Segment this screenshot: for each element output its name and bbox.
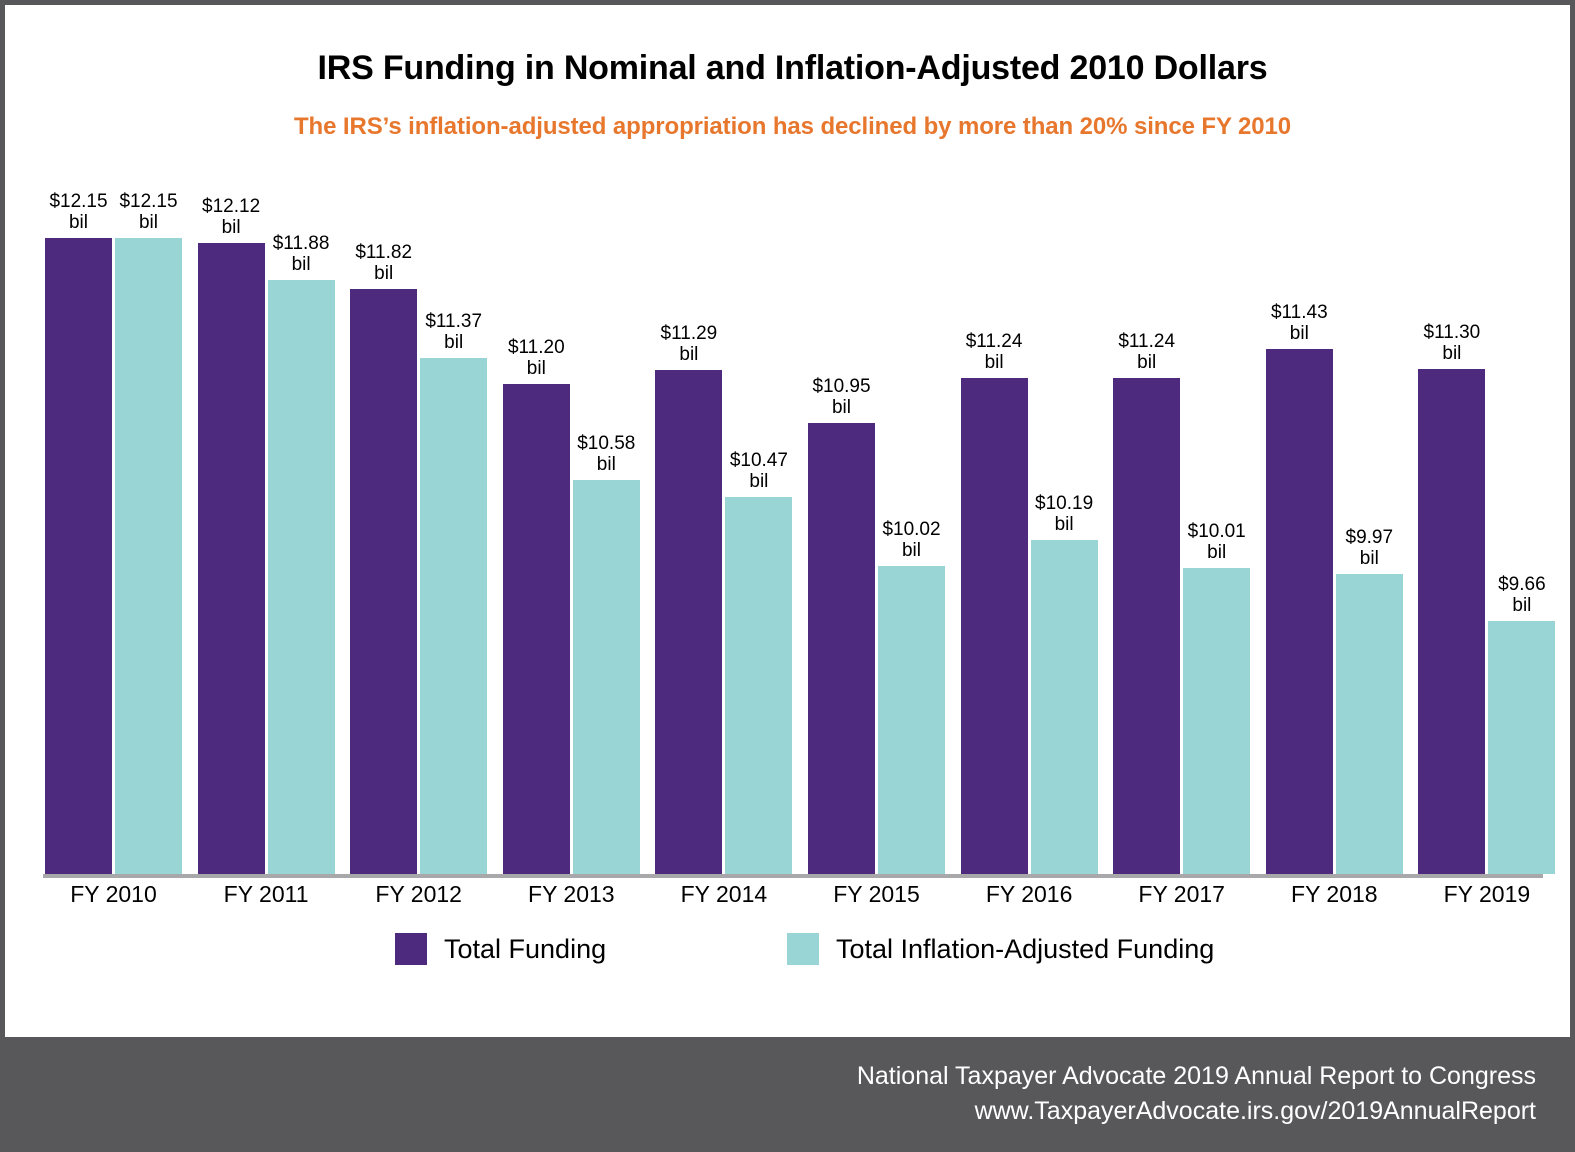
bar-fy-2017-adjusted[interactable] bbox=[1183, 568, 1250, 874]
bar-fy-2016-nominal[interactable] bbox=[961, 378, 1028, 874]
bar-value-label-fy-2012-nominal: $11.82bil bbox=[336, 242, 431, 284]
bar-fy-2018-nominal[interactable] bbox=[1266, 349, 1333, 874]
chart-page: IRS Funding in Nominal and Inflation-Adj… bbox=[0, 0, 1575, 1152]
bar-fy-2011-adjusted[interactable] bbox=[268, 280, 335, 874]
bar-fy-2018-adjusted[interactable] bbox=[1336, 574, 1403, 874]
bar-value-label-fy-2014-adjusted: $10.47bil bbox=[711, 450, 806, 492]
bar-fy-2014-nominal[interactable] bbox=[655, 370, 722, 874]
legend-label-inflation-adjusted: Total Inflation-Adjusted Funding bbox=[836, 934, 1214, 965]
legend-swatch-icon-inflation-adjusted bbox=[787, 933, 819, 965]
legend-label-total-funding: Total Funding bbox=[444, 934, 606, 965]
bar-value-label-fy-2016-nominal: $11.24bil bbox=[947, 331, 1042, 373]
bar-fy-2017-nominal[interactable] bbox=[1113, 378, 1180, 874]
bar-fy-2013-adjusted[interactable] bbox=[573, 480, 640, 874]
bar-fy-2015-adjusted[interactable] bbox=[878, 566, 945, 874]
bar-fy-2010-adjusted[interactable] bbox=[115, 238, 182, 874]
bar-value-label-fy-2015-nominal: $10.95bil bbox=[794, 376, 889, 418]
bar-value-label-fy-2011-adjusted: $11.88bil bbox=[254, 233, 349, 275]
legend-swatch-icon-total-funding bbox=[395, 933, 427, 965]
footer-report-title: National Taxpayer Advocate 2019 Annual R… bbox=[5, 1059, 1536, 1094]
bar-value-label-fy-2018-nominal: $11.43bil bbox=[1252, 302, 1347, 344]
bar-fy-2019-nominal[interactable] bbox=[1418, 369, 1485, 874]
bar-value-label-fy-2013-nominal: $11.20bil bbox=[489, 337, 584, 379]
bar-value-label-fy-2019-nominal: $11.30bil bbox=[1404, 322, 1499, 364]
bar-fy-2012-nominal[interactable] bbox=[350, 289, 417, 874]
bar-value-label-fy-2011-nominal: $12.12bil bbox=[184, 196, 279, 238]
bar-value-label-fy-2010-adjusted: $12.15bil bbox=[101, 191, 196, 233]
bar-fy-2019-adjusted[interactable] bbox=[1488, 621, 1555, 874]
bar-value-label-fy-2017-adjusted: $10.01bil bbox=[1169, 521, 1264, 563]
legend-item-total-funding[interactable]: Total Funding bbox=[395, 933, 606, 965]
legend-item-inflation-adjusted[interactable]: Total Inflation-Adjusted Funding bbox=[787, 933, 1214, 965]
bar-value-label-fy-2016-adjusted: $10.19bil bbox=[1017, 493, 1112, 535]
bar-value-label-fy-2017-nominal: $11.24bil bbox=[1099, 331, 1194, 373]
bar-value-label-fy-2012-adjusted: $11.37bil bbox=[406, 311, 501, 353]
bar-value-label-fy-2018-adjusted: $9.97bil bbox=[1322, 527, 1417, 569]
bar-value-label-fy-2019-adjusted: $9.66bil bbox=[1474, 574, 1569, 616]
bar-value-label-fy-2014-nominal: $11.29bil bbox=[641, 323, 736, 365]
bar-fy-2015-nominal[interactable] bbox=[808, 423, 875, 874]
bar-fy-2016-adjusted[interactable] bbox=[1031, 540, 1098, 874]
bar-value-label-fy-2015-adjusted: $10.02bil bbox=[864, 519, 959, 561]
bar-fy-2012-adjusted[interactable] bbox=[420, 358, 487, 874]
footer-band: National Taxpayer Advocate 2019 Annual R… bbox=[5, 1037, 1575, 1152]
x-axis-label-fy-2019: FY 2019 bbox=[1390, 881, 1575, 908]
bar-fy-2010-nominal[interactable] bbox=[45, 238, 112, 874]
chart-legend: Total Funding Total Inflation-Adjusted F… bbox=[5, 933, 1575, 983]
bar-chart-plot-area: $12.15bil$12.15bil$12.12bil$11.88bil$11.… bbox=[5, 5, 1575, 1037]
footer-url[interactable]: www.TaxpayerAdvocate.irs.gov/2019AnnualR… bbox=[5, 1094, 1536, 1129]
bar-value-label-fy-2013-adjusted: $10.58bil bbox=[559, 433, 654, 475]
bar-fy-2011-nominal[interactable] bbox=[198, 243, 265, 874]
bar-fy-2014-adjusted[interactable] bbox=[725, 497, 792, 874]
x-axis-line bbox=[43, 874, 1543, 878]
